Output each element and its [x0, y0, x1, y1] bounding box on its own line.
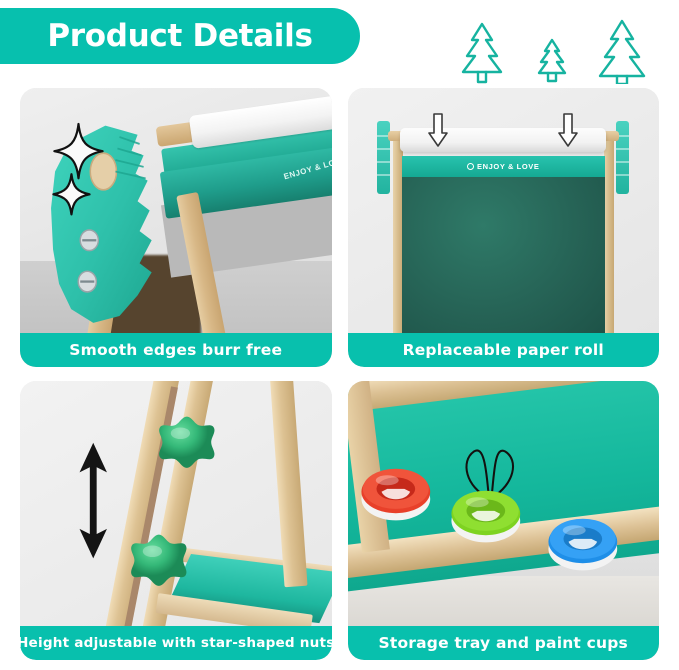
panel-smooth-edges[interactable]: ENJOY & LOVE: [20, 88, 332, 367]
caption-storage-tray: Storage tray and paint cups: [348, 626, 660, 660]
product-details-infographic: Product Details: [0, 0, 679, 670]
screw-icon-2: [78, 272, 96, 293]
caption-text: Height adjustable with star-shaped nuts: [20, 635, 332, 651]
page-title: Product Details: [7, 18, 312, 54]
red-paint-cup: [360, 454, 432, 527]
caption-text: Replaceable paper roll: [403, 341, 604, 359]
sparkle-icons: [39, 116, 120, 216]
pine-tree-icon-2: [539, 40, 565, 81]
photo-smooth-edges: ENJOY & LOVE: [20, 88, 332, 367]
brand-name: ENJOY & LOVE: [477, 162, 540, 171]
photo-storage-tray: [348, 381, 660, 660]
brand-logo-icon: [467, 163, 474, 170]
panel-paper-roll[interactable]: ENJOY & LOVE Replaceable paper roll: [348, 88, 660, 367]
caption-paper-roll: Replaceable paper roll: [348, 333, 660, 367]
panel-storage-tray[interactable]: Storage tray and paint cups: [348, 381, 660, 660]
screw-icon-1: [80, 230, 98, 251]
star-knob-upper: [151, 414, 223, 478]
star-knob-lower: [123, 532, 195, 596]
caption-text: Smooth edges burr free: [69, 341, 282, 359]
green-paint-cup: [450, 476, 522, 549]
down-arrow-icon-left: [428, 113, 448, 147]
pine-trees-decoration: [452, 18, 662, 84]
blue-paint-cup: [547, 504, 619, 577]
photo-height-adjustable: [20, 381, 332, 660]
panel-height-adjustable[interactable]: Height adjustable with star-shaped nuts: [20, 381, 332, 660]
photo-paper-roll: ENJOY & LOVE: [348, 88, 660, 367]
title-banner: Product Details: [0, 8, 360, 64]
sparkle-icon-small: [53, 174, 89, 214]
down-arrow-icon-right: [558, 113, 578, 147]
sparkle-icon-large: [54, 124, 102, 178]
chalkboard: [402, 177, 605, 339]
wooden-frame-right: [604, 133, 614, 367]
caption-text: Storage tray and paint cups: [378, 634, 628, 652]
header: Product Details: [0, 0, 679, 88]
pine-tree-icon-3: [600, 21, 644, 84]
brand-bar: ENJOY & LOVE: [402, 156, 605, 177]
caption-height-adjustable: Height adjustable with star-shaped nuts: [20, 626, 332, 660]
panel-grid: ENJOY & LOVE: [20, 88, 659, 660]
height-arrow-icon: [73, 442, 113, 559]
brand-mark-small: ENJOY & LOVE: [283, 155, 331, 182]
caption-smooth-edges: Smooth edges burr free: [20, 333, 332, 367]
pine-tree-icon-1: [463, 24, 501, 82]
